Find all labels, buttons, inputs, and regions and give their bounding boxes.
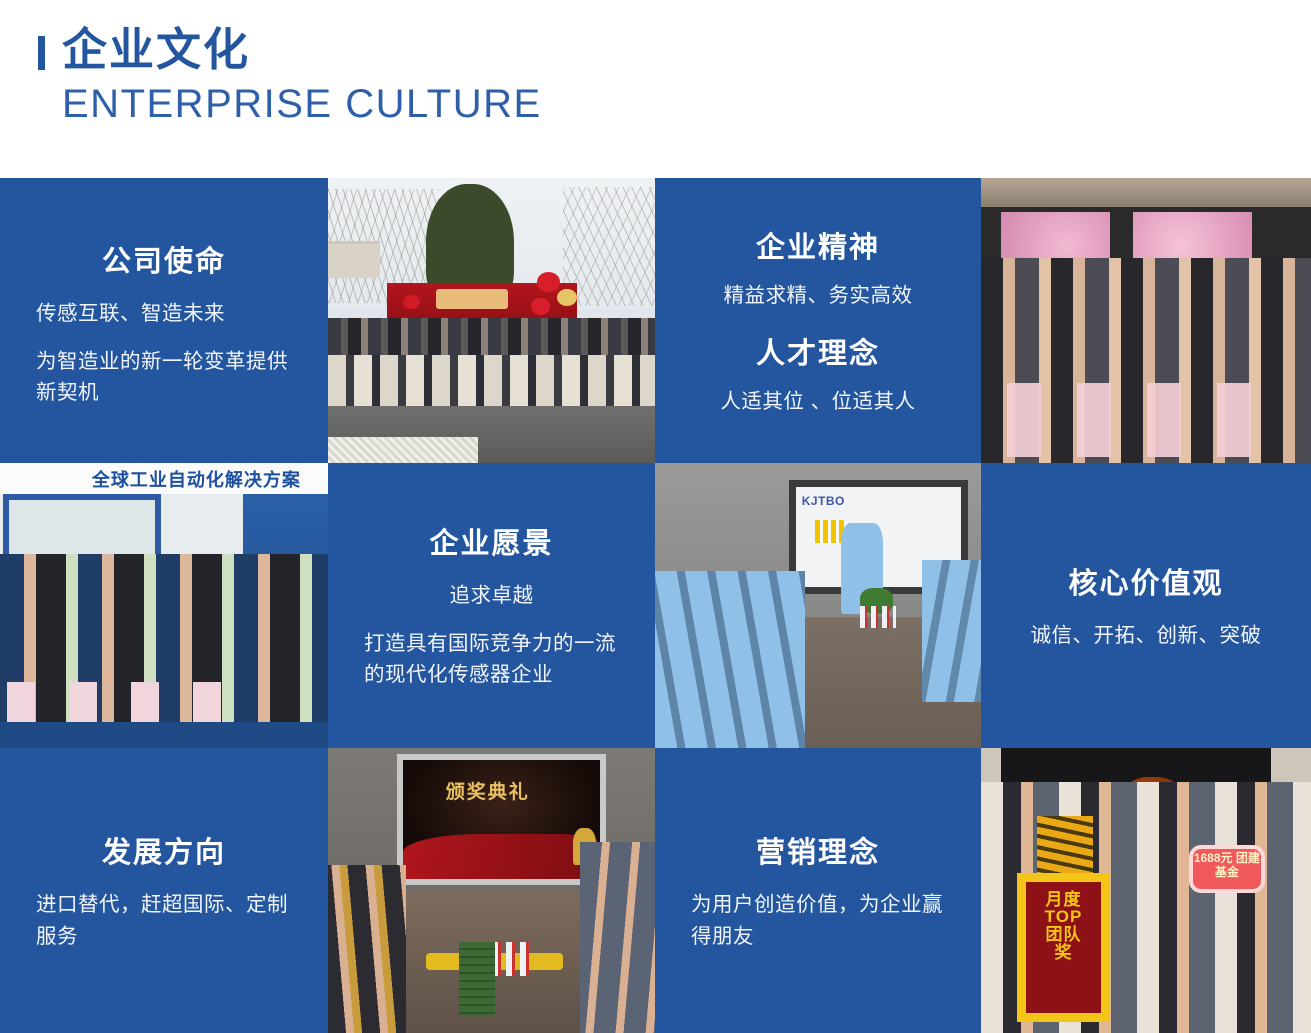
photo-balloon (557, 289, 577, 306)
culture-photo-award-ceremony: 颁奖典礼 (328, 748, 655, 1033)
photo-birthday-party: 全球工业自动化解决方案 (0, 463, 328, 748)
card-line: 为智造业的新一轮变革提供新契机 (36, 346, 292, 410)
photo-bonus-sign-text: 1688元 团建基金 (1192, 851, 1261, 880)
card-line: 传感互联、智造未来 (36, 298, 292, 330)
photo-bamboo-plant (459, 942, 495, 1016)
page-subtitle: ENTERPRISE CULTURE (62, 82, 1311, 126)
title-accent-bar-icon (38, 36, 45, 70)
card-line: 人适其位 、位适其人 (691, 386, 945, 418)
photo-product-diagram (815, 520, 844, 543)
photo-balloon (403, 295, 419, 309)
card-line: 打造具有国际竞争力的一流的现代化传感器企业 (364, 628, 619, 692)
photo-top-team-award: 月度 TOP 团队奖 1688元 团建基金 (981, 748, 1311, 1033)
card-line: 进口替代，赶超国际、定制服务 (36, 889, 292, 953)
culture-photo-birthday: 全球工业自动化解决方案 (0, 463, 328, 748)
photo-crowd-front-row (328, 355, 655, 409)
culture-photo-top-team-award: 月度 TOP 团队奖 1688元 团建基金 (981, 748, 1311, 1033)
photo-red-ribbon (403, 834, 599, 880)
photo-building-roof (328, 241, 380, 278)
card-heading: 公司使命 (36, 238, 292, 280)
culture-card-spirit-talent[interactable]: 企业精神 精益求精、务实高效 人才理念 人适其位 、位适其人 (655, 178, 981, 463)
culture-card-mission[interactable]: 公司使命 传感互联、智造未来 为智造业的新一轮变革提供新契机 (0, 178, 328, 463)
photo-award-ceremony: 颁奖典礼 (328, 748, 655, 1033)
culture-photo-womens-day (981, 178, 1311, 463)
photo-screen-title: 颁奖典礼 (446, 777, 530, 804)
photo-banner-text: 全球工业自动化解决方案 (92, 466, 301, 492)
card-heading: 企业愿景 (364, 520, 619, 562)
culture-photo-training: KJTBO (655, 463, 981, 748)
photo-womens-day (981, 178, 1311, 463)
photo-ceiling (981, 178, 1311, 207)
photo-water-bottles (492, 942, 531, 976)
photo-gravel (328, 437, 478, 463)
photo-screen-logo: KJTBO (802, 494, 845, 508)
page-title: 企业文化 (62, 24, 250, 76)
photo-pennant-text: 月度 TOP 团队奖 (1037, 891, 1090, 962)
culture-grid: 公司使命 传感互联、智造未来 为智造业的新一轮变革提供新契机 企业精神 精益求精… (0, 178, 1311, 1033)
card-line: 诚信、开拓、创新、突破 (1017, 620, 1275, 652)
photo-attendees (580, 842, 655, 1033)
card-heading: 企业精神 (691, 224, 945, 266)
card-line: 追求卓越 (364, 580, 619, 612)
photo-attendees (655, 571, 805, 748)
photo-banner-year (436, 289, 508, 309)
culture-photo-annual-group (328, 178, 655, 463)
photo-floor (0, 722, 328, 748)
card-heading-secondary: 人才理念 (691, 330, 945, 372)
photo-water-bottles (860, 606, 896, 629)
card-heading: 发展方向 (36, 829, 292, 871)
photo-balloon (531, 298, 551, 315)
photo-balloon (537, 272, 560, 292)
culture-card-vision[interactable]: 企业愿景 追求卓越 打造具有国际竞争力的一流的现代化传感器企业 (328, 463, 655, 748)
culture-card-core-values[interactable]: 核心价值观 诚信、开拓、创新、突破 (981, 463, 1311, 748)
card-line: 为用户创造价值，为企业赢得朋友 (691, 889, 945, 953)
culture-card-marketing[interactable]: 营销理念 为用户创造价值，为企业赢得朋友 (655, 748, 981, 1033)
page-header: 企业文化 ENTERPRISE CULTURE (0, 0, 1311, 178)
photo-attendees (328, 865, 406, 1033)
photo-annual-group (328, 178, 655, 463)
photo-gift-bags (1007, 383, 1284, 457)
photo-attendees (922, 560, 981, 703)
card-line: 精益求精、务实高效 (691, 280, 945, 312)
photo-branches (563, 187, 655, 307)
card-heading: 营销理念 (691, 829, 945, 871)
page-title-row: 企业文化 (38, 24, 1311, 76)
culture-card-direction[interactable]: 发展方向 进口替代，赶超国际、定制服务 (0, 748, 328, 1033)
photo-training-session: KJTBO (655, 463, 981, 748)
card-heading: 核心价值观 (1017, 560, 1275, 602)
